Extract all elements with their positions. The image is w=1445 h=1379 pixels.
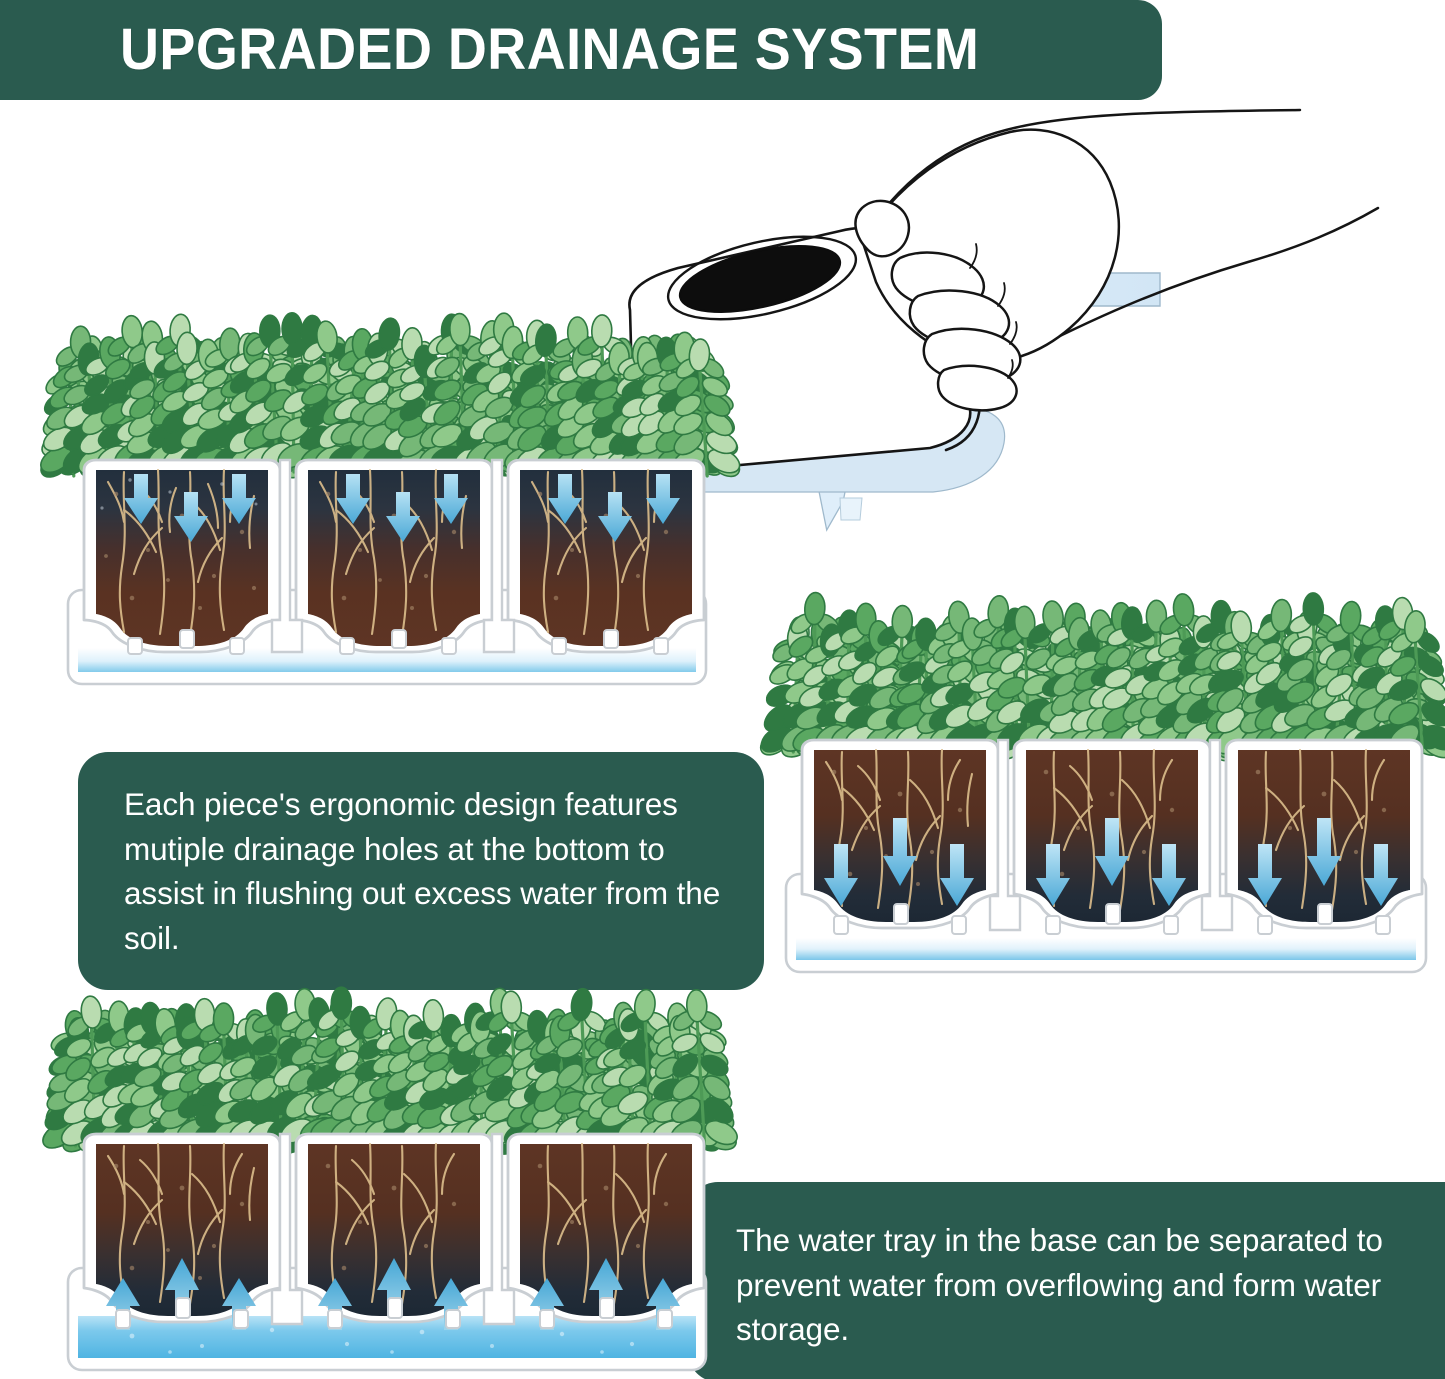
pot-cells: [84, 460, 704, 654]
leaf-icon: [449, 313, 470, 346]
planter-cross-section-water-storage: [62, 1030, 712, 1375]
pot-cells: [84, 1134, 704, 1330]
planter-cross-section-draining: [780, 638, 1432, 978]
leaf-icon: [892, 605, 913, 638]
caption-drainage-holes: Each piece's ergonomic design features m…: [78, 752, 764, 990]
title-banner: UPGRADED DRAINAGE SYSTEM: [0, 0, 1162, 100]
page-title: UPGRADED DRAINAGE SYSTEM: [120, 21, 979, 79]
hand-icon: [855, 110, 1378, 410]
caption-drainage-holes-text: Each piece's ergonomic design features m…: [124, 782, 736, 961]
leaf-icon: [331, 987, 351, 1019]
leaf-icon: [177, 332, 198, 365]
caption-water-tray: The water tray in the base can be separa…: [688, 1182, 1445, 1379]
leaf-icon: [591, 315, 612, 348]
caption-water-tray-text: The water tray in the base can be separa…: [736, 1218, 1415, 1352]
tray-water: [796, 938, 1416, 960]
pot-cells: [802, 740, 1422, 934]
leaf-icon: [213, 1003, 234, 1035]
leaf-icon: [1303, 593, 1324, 626]
infographic-canvas: UPGRADED DRAINAGE SYSTEM: [0, 0, 1445, 1379]
leaf-icon: [501, 991, 522, 1024]
planter-cross-section-watering: [62, 352, 712, 692]
